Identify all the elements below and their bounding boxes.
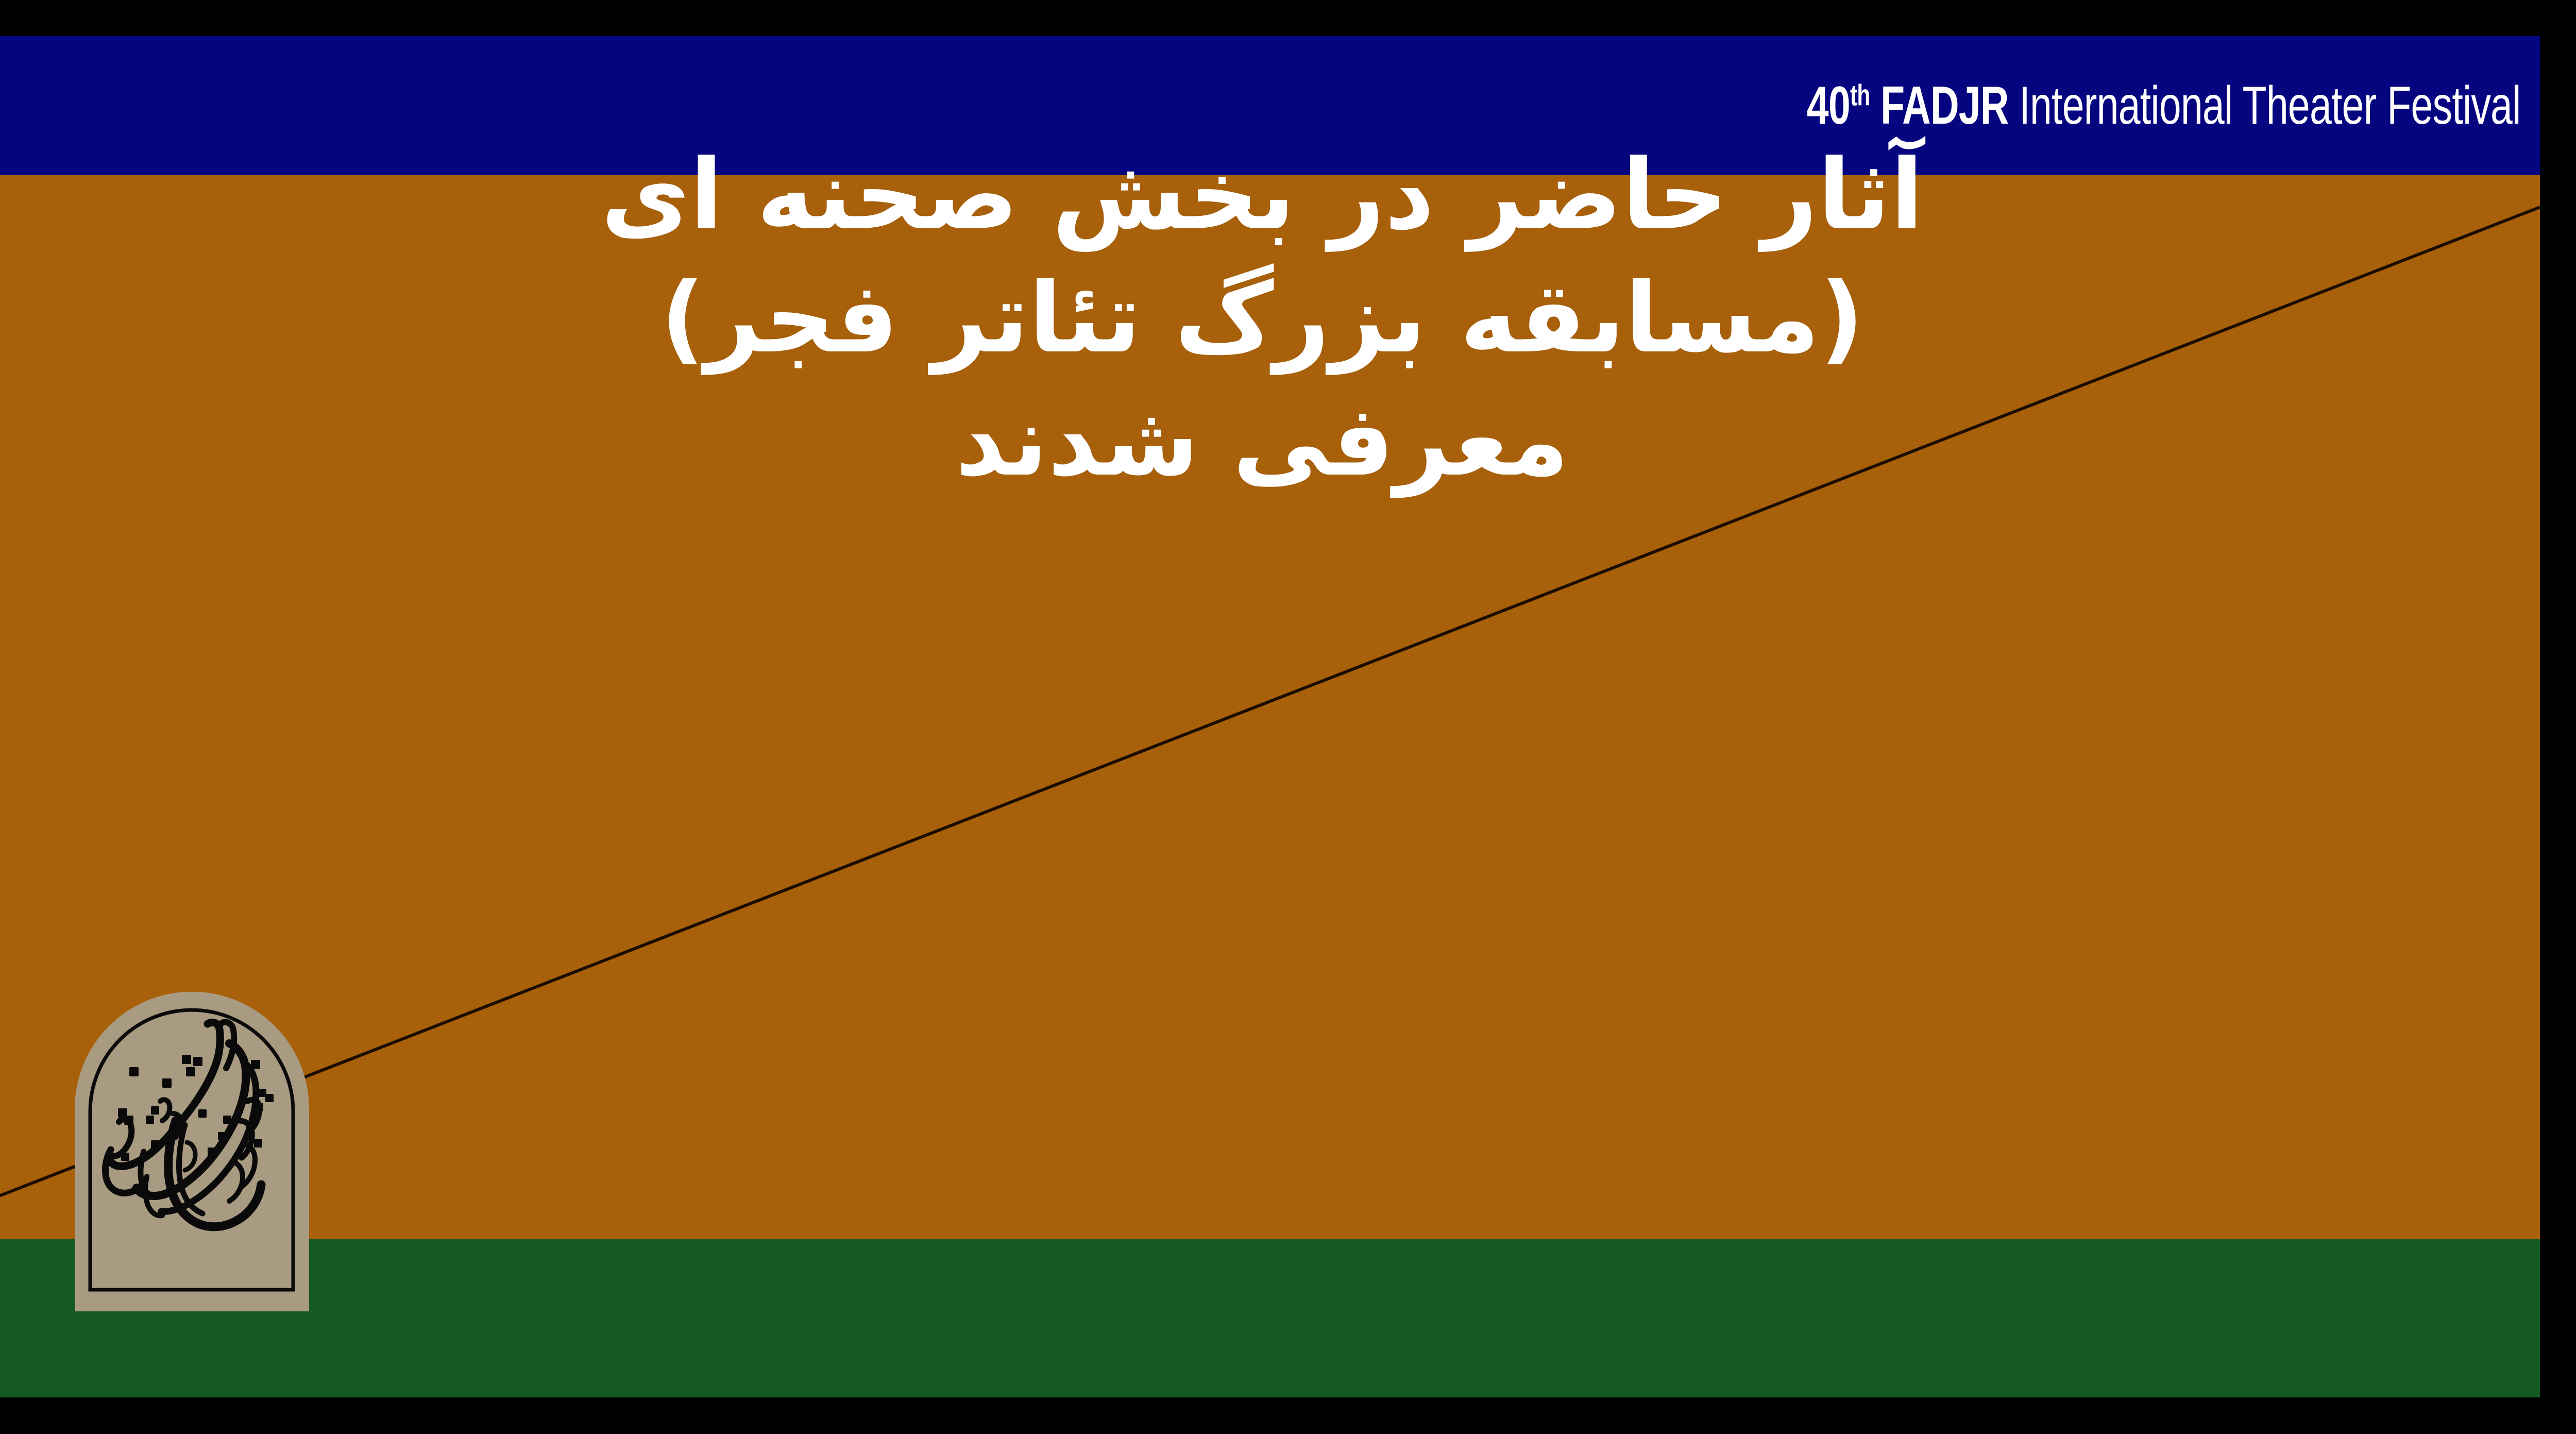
festival-ordinal-number: 40 [1806,76,1850,136]
festival-ordinal-suffix: th [1850,79,1869,112]
headline-line-3: معرفی شدند [0,380,2540,503]
headline-block: آثار حاضر در بخش صحنه ای (مسابقه بزرگ تئ… [0,134,2540,503]
festival-title: 40th FADJR International Theater Festiva… [1806,79,2520,132]
festival-brand-label: FADJR [1880,76,2009,136]
headline-line-1: آثار حاضر در بخش صحنه ای [0,134,2540,257]
headline-line-2: (مسابقه بزرگ تئاتر فجر) [0,257,2540,380]
festival-subtitle-space [2008,76,2019,136]
green-background-field [0,1239,2540,1397]
festival-subtitle: International Theater Festival [2019,76,2520,136]
festival-brand-name [1870,76,1880,136]
festival-emblem-logo [75,992,309,1311]
banner-stage: 40th FADJR International Theater Festiva… [0,36,2540,1397]
festival-banner: 40th FADJR International Theater Festiva… [0,0,2576,1434]
